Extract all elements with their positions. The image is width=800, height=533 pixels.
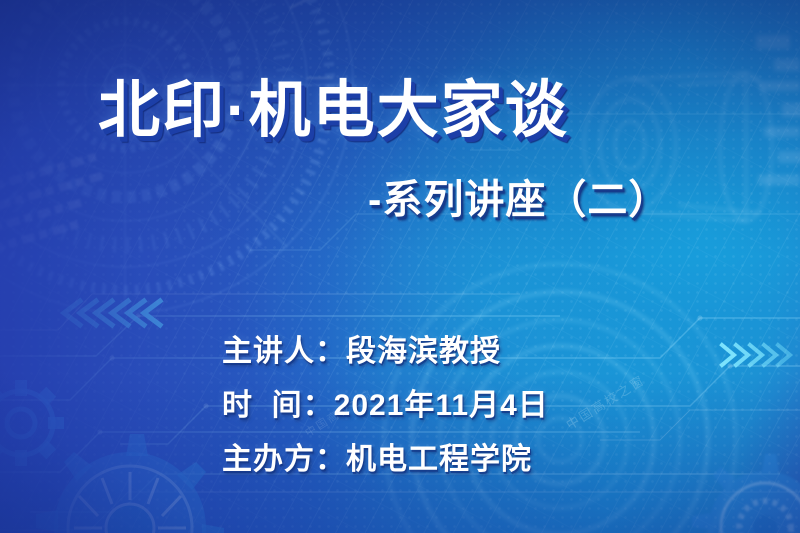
lecture-poster: 北印·机电大家谈 -系列讲座（二） 主讲人：段海滨教授 时 间：2021年11月… (0, 0, 800, 533)
background-vignette (0, 0, 800, 533)
